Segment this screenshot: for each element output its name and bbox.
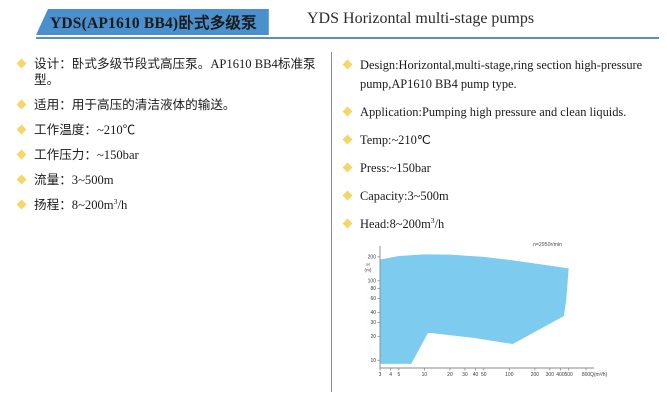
diamond-bullet-icon	[343, 191, 353, 201]
x-axis-tick-label: 10	[422, 372, 428, 378]
list-item-label: Capacity:3~500m	[360, 187, 656, 206]
y-axis-tick-label: 80	[370, 286, 376, 292]
diamond-bullet-icon	[17, 150, 27, 160]
x-axis-tick-label: 40	[473, 372, 479, 378]
y-axis-tick-label: 60	[370, 296, 376, 302]
chart-title-label: n=2950r/min	[533, 242, 562, 248]
list-item-label: 扬程：8~200m3/h	[34, 197, 323, 213]
y-axis-tick-label: 200	[368, 255, 377, 261]
x-axis-ticks: 3451020304050100200300400500800	[379, 368, 591, 378]
list-item-tail: /h	[435, 217, 445, 231]
header-rule	[36, 37, 659, 39]
list-item: 设计：卧式多级节段式高压泵。AP1610 BB4标准泵型。	[18, 56, 323, 88]
envelope-area	[380, 254, 569, 364]
list-item-label: 适用：用于高压的清洁液体的输送。	[34, 97, 323, 113]
diamond-bullet-icon	[17, 175, 27, 185]
x-axis-tick-label: 4	[389, 372, 392, 378]
diamond-bullet-icon	[17, 200, 27, 210]
column-divider	[331, 52, 332, 392]
y-axis-tick-label: 20	[370, 334, 376, 340]
diamond-bullet-icon	[343, 163, 353, 173]
x-axis-tick-label: 5	[397, 372, 400, 378]
header-banner-title: YDS(AP1610 BB4)卧式多级泵	[36, 9, 269, 35]
x-axis-label: Q(m³/h)	[590, 372, 608, 378]
list-item-label: 工作压力：~150bar	[34, 147, 323, 163]
x-axis-tick-label: 300	[546, 372, 555, 378]
list-item-label: Temp:~210℃	[360, 131, 656, 150]
y-axis-tick-label: 30	[370, 320, 376, 326]
x-axis-tick-label: 50	[481, 372, 487, 378]
list-item: Temp:~210℃	[344, 131, 656, 150]
list-item-label: Head:8~200m3/h	[360, 215, 656, 234]
y-axis-tick-label: 100	[368, 278, 377, 284]
list-item: 工作压力：~150bar	[18, 147, 323, 163]
y-axis-unit-m: (m)	[365, 268, 372, 273]
x-axis-tick-label: 100	[505, 372, 514, 378]
list-item-label: 设计：卧式多级节段式高压泵。AP1610 BB4标准泵型。	[34, 56, 323, 88]
list-item: Head:8~200m3/h	[344, 215, 656, 234]
list-item-label: 工作温度：~210℃	[34, 122, 323, 138]
chart-svg: n=2950r/min 102030406080100200 345102030…	[358, 236, 658, 396]
list-item: Application:Pumping high pressure and cl…	[344, 103, 656, 122]
list-item: Capacity:3~500m	[344, 187, 656, 206]
diamond-bullet-icon	[17, 59, 27, 69]
diamond-bullet-icon	[343, 219, 353, 229]
x-axis-tick-label: 30	[462, 372, 468, 378]
list-item: Press:~150bar	[344, 159, 656, 178]
header-subtitle: YDS Horizontal multi-stage pumps	[307, 10, 534, 28]
y-axis-tick-label: 10	[370, 358, 376, 364]
diamond-bullet-icon	[343, 107, 353, 117]
list-item-label: 流量：3~500m	[34, 172, 323, 188]
list-item-text: Head:8~200m	[360, 217, 431, 231]
diamond-bullet-icon	[343, 135, 353, 145]
list-item-tail: /h	[117, 198, 127, 212]
list-item: Design:Horizontal,multi-stage,ring secti…	[344, 56, 656, 94]
y-axis-tick-label: 40	[370, 310, 376, 316]
diamond-bullet-icon	[17, 100, 27, 110]
list-item: 扬程：8~200m3/h	[18, 197, 323, 213]
x-axis-tick-label: 20	[447, 372, 453, 378]
list-item-label: Press:~150bar	[360, 159, 656, 178]
x-axis-tick-label: 500	[564, 372, 573, 378]
list-item-label: Design:Horizontal,multi-stage,ring secti…	[360, 56, 656, 94]
y-axis-unit-h: H	[366, 262, 369, 267]
list-item: 流量：3~500m	[18, 172, 323, 188]
x-axis-tick-label: 200	[531, 372, 540, 378]
list-item-label: Application:Pumping high pressure and cl…	[360, 103, 656, 122]
chart-plot-area	[380, 254, 569, 364]
page-header: YDS(AP1610 BB4)卧式多级泵 YDS Horizontal mult…	[0, 0, 667, 44]
x-axis-tick-label: 3	[379, 372, 382, 378]
diamond-bullet-icon	[343, 60, 353, 70]
pump-performance-chart: n=2950r/min 102030406080100200 345102030…	[358, 236, 658, 396]
chart-title: n=2950r/min	[533, 242, 562, 248]
list-item-text: 扬程：8~200m	[34, 198, 114, 212]
specs-list-english: Design:Horizontal,multi-stage,ring secti…	[344, 56, 656, 243]
list-item: 适用：用于高压的清洁液体的输送。	[18, 97, 323, 113]
specs-list-chinese: 设计：卧式多级节段式高压泵。AP1610 BB4标准泵型。 适用：用于高压的清洁…	[18, 56, 323, 222]
list-item: 工作温度：~210℃	[18, 122, 323, 138]
diamond-bullet-icon	[17, 125, 27, 135]
